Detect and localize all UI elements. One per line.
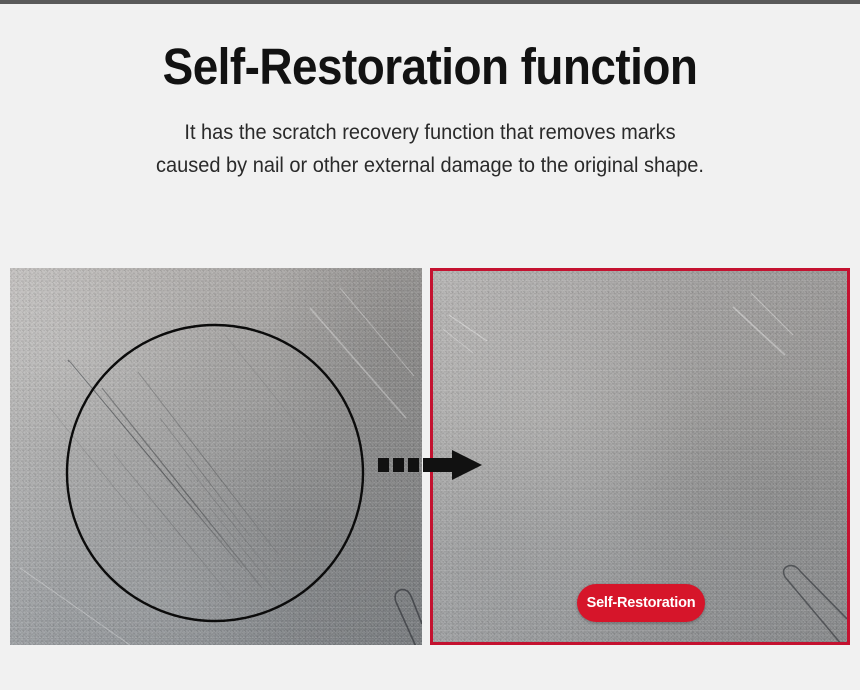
page-root: Self-Restoration function It has the scr… <box>0 0 860 690</box>
arrow-dash-2 <box>393 458 404 472</box>
arrow-head <box>452 450 482 480</box>
arrow-dash-1 <box>378 458 389 472</box>
before-annotations <box>10 268 422 645</box>
scratch-marks <box>50 334 310 598</box>
scratch-highlight-circle <box>67 325 363 621</box>
subtitle-line-2: caused by nail or other external damage … <box>30 149 830 182</box>
transition-arrow-icon <box>378 450 482 480</box>
page-title: Self-Restoration function <box>43 4 817 94</box>
status-badge: Self-Restoration <box>577 584 705 622</box>
subtitle-line-1: It has the scratch recovery function tha… <box>30 116 830 149</box>
panel-edge-line-after <box>784 566 847 642</box>
surface-streaks-after <box>443 293 793 355</box>
header-section: Self-Restoration function It has the scr… <box>0 4 860 182</box>
panel-edge-line <box>395 590 422 645</box>
surface-streaks <box>20 288 414 645</box>
arrow-dash-3 <box>408 458 419 472</box>
before-image-panel <box>10 268 422 645</box>
page-subtitle: It has the scratch recovery function tha… <box>30 94 830 182</box>
